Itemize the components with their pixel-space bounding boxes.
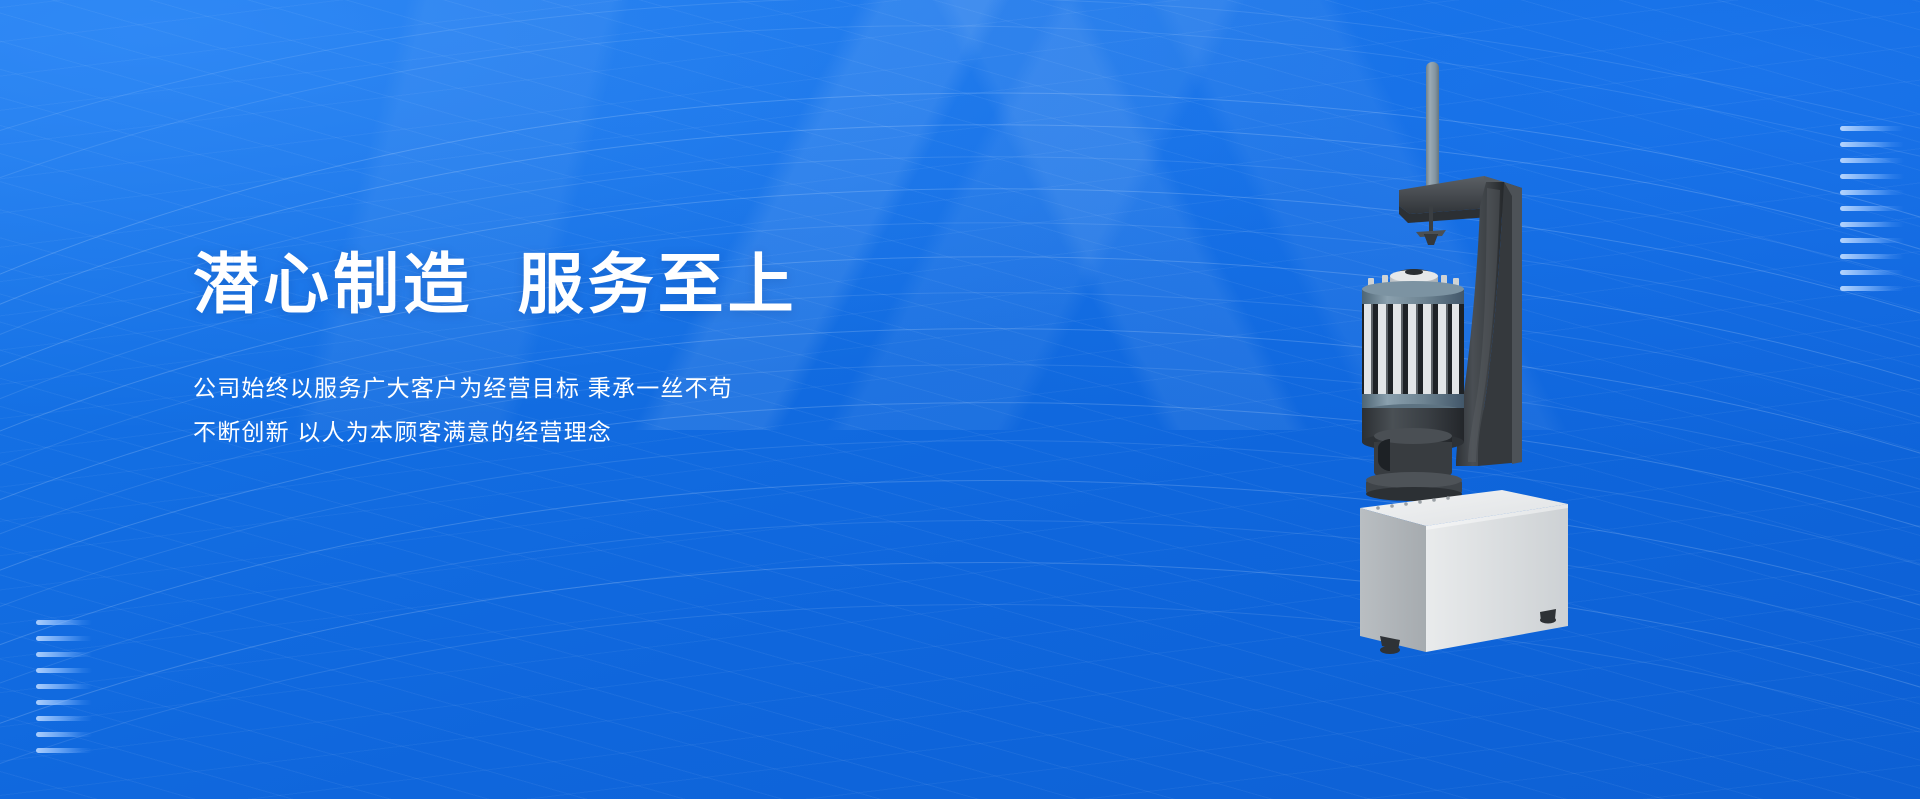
bar-icon (1840, 206, 1904, 211)
white-cabinet-part (1360, 490, 1568, 652)
bar-icon (1840, 190, 1904, 195)
banner-subtitle: 公司始终以服务广大客户为经营目标 秉承一丝不苟 不断创新 以人为本顾客满意的经营… (193, 366, 1053, 454)
hero-banner: 潜心制造 服务至上 公司始终以服务广大客户为经营目标 秉承一丝不苟 不断创新 以… (0, 0, 1920, 799)
banner-subtitle-line-2: 不断创新 以人为本顾客满意的经营理念 (193, 410, 1053, 454)
vertical-rod-part (1426, 62, 1439, 202)
bar-icon (1840, 222, 1904, 227)
bar-icon (36, 732, 92, 737)
finned-motor-rotor-part (1362, 269, 1464, 420)
bar-icon (36, 636, 92, 641)
bar-icon (1840, 174, 1904, 179)
bar-icon (1840, 142, 1904, 147)
bar-icon (36, 684, 92, 689)
decoration-bars-left (36, 620, 92, 753)
bar-icon (36, 620, 92, 625)
bar-icon (36, 652, 92, 657)
banner-copy: 潜心制造 服务至上 公司始终以服务广大客户为经营目标 秉承一丝不苟 不断创新 以… (193, 248, 1053, 454)
product-image-rotary-mixer-machine (1352, 56, 1612, 666)
curved-column-part (1456, 182, 1522, 466)
bar-icon (36, 748, 92, 753)
bar-icon (36, 700, 92, 705)
bar-icon (1840, 238, 1904, 243)
decoration-bars-right (1840, 126, 1904, 291)
bar-icon (1840, 126, 1904, 131)
bar-icon (36, 716, 92, 721)
bar-icon (1840, 270, 1904, 275)
cylindrical-base-hub-part (1362, 408, 1464, 501)
bar-icon (1840, 254, 1904, 259)
banner-subtitle-line-1: 公司始终以服务广大客户为经营目标 秉承一丝不苟 (193, 366, 1053, 410)
bar-icon (36, 668, 92, 673)
bar-icon (1840, 158, 1904, 163)
banner-headline: 潜心制造 服务至上 (193, 248, 1053, 322)
bar-icon (1840, 286, 1904, 291)
